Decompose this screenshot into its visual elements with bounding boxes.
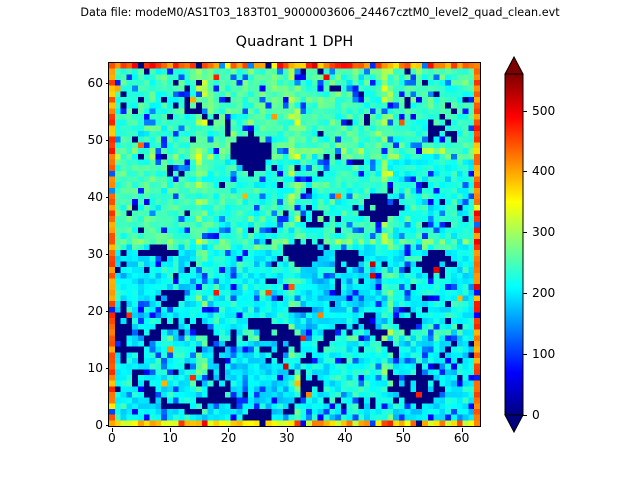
- colorbar-tick-label: 400: [532, 165, 555, 177]
- y-tick-mark: [106, 425, 110, 426]
- data-file-label: Data file: modeM0/AS1T03_183T01_90000036…: [0, 6, 640, 20]
- y-tick-label: 20: [87, 305, 103, 317]
- y-tick-mark: [106, 254, 110, 255]
- colorbar-tick-mark: [523, 293, 527, 294]
- plot-title: Quadrant 1 DPH: [108, 33, 481, 51]
- x-tick-label: 40: [337, 432, 353, 444]
- colorbar-tick-mark: [523, 354, 527, 355]
- y-tick-label: 30: [87, 248, 103, 260]
- colorbar-tick-mark: [523, 415, 527, 416]
- colorbar-tick-label: 500: [532, 105, 555, 117]
- colorbar-tick-label: 200: [532, 287, 555, 299]
- y-tick-label: 0: [95, 419, 103, 431]
- colorbar[interactable]: 0100200300400500: [505, 62, 523, 427]
- colorbar-tick-label: 0: [532, 409, 540, 421]
- y-tick-mark: [106, 311, 110, 312]
- y-tick-mark: [106, 368, 110, 369]
- colorbar-gradient: [505, 62, 523, 427]
- y-tick-label: 50: [87, 134, 103, 146]
- y-tick-label: 10: [87, 362, 103, 374]
- x-tick-label: 60: [454, 432, 470, 444]
- x-tick-label: 20: [221, 432, 237, 444]
- colorbar-tick-mark: [523, 171, 527, 172]
- colorbar-tick-label: 300: [532, 226, 555, 238]
- colorbar-tick-mark: [523, 232, 527, 233]
- y-tick-mark: [106, 83, 110, 84]
- x-tick-label: 10: [162, 432, 178, 444]
- colorbar-tick-mark: [523, 111, 527, 112]
- colorbar-extend-low-arrow: [505, 415, 523, 432]
- x-tick-label: 30: [279, 432, 295, 444]
- y-tick-mark: [106, 197, 110, 198]
- y-tick-mark: [106, 140, 110, 141]
- colorbar-tick-label: 100: [532, 348, 555, 360]
- y-tick-label: 60: [87, 77, 103, 89]
- x-tick-label: 50: [396, 432, 412, 444]
- x-tick-label: 0: [108, 432, 116, 444]
- matplotlib-figure: Data file: modeM0/AS1T03_183T01_90000036…: [0, 0, 640, 480]
- colorbar-extend-high-arrow: [505, 57, 523, 74]
- y-tick-label: 40: [87, 191, 103, 203]
- heatmap-axes[interactable]: 0102030405060 0102030405060: [108, 62, 481, 427]
- dph-heatmap-image[interactable]: [109, 63, 480, 426]
